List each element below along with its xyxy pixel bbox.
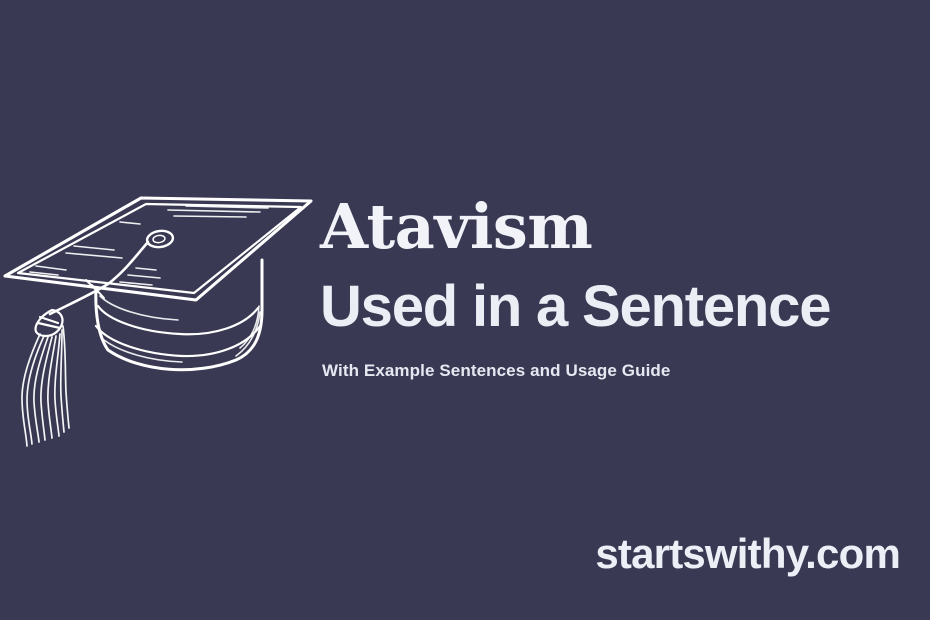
cap-button-icon: [146, 229, 174, 248]
tassel-strands-icon: [22, 326, 69, 446]
mortarboard-top-inner-icon: [18, 204, 301, 293]
share-card: Atavism Used in a Sentence With Example …: [0, 0, 930, 620]
subtitle: With Example Sentences and Usage Guide: [322, 360, 910, 382]
cap-crown-line-3-icon: [96, 326, 260, 356]
headline: Used in a Sentence: [320, 276, 910, 338]
brand-domain: startswithy.com: [595, 530, 900, 578]
cap-crown-icon: [96, 260, 262, 370]
mortarboard-top-icon: [5, 198, 311, 300]
cap-crown-line-4-icon: [100, 296, 260, 362]
cap-button-inner-icon: [153, 235, 166, 244]
word-title: Atavism: [320, 196, 910, 258]
title-block: Atavism Used in a Sentence With Example …: [320, 196, 910, 382]
graduation-cap-illustration: [0, 160, 320, 460]
